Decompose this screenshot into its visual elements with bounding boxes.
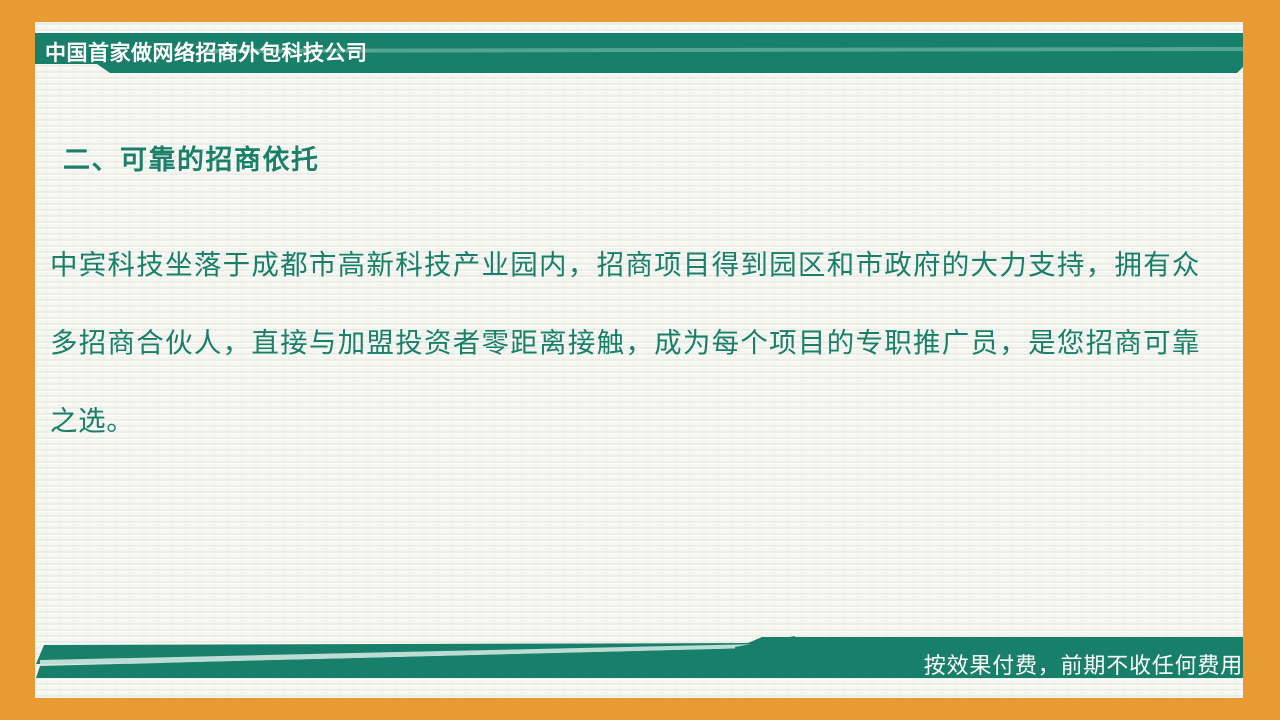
page-title: 二、可靠的招商依托 [63,138,320,177]
footer-tagline: 按效果付费，前期不收任何费用 [924,645,1243,683]
header-title: 中国首家做网络招商外包科技公司 [45,33,368,71]
body-paragraph: 中宾科技坐落于成都市高新科技产业园内，招商项目得到园区和市政府的大力支持，拥有众… [50,226,1200,460]
slide-canvas: 中国首家做网络招商外包科技公司 二、可靠的招商依托 中宾科技坐落于成都市高新科技… [0,0,1280,720]
